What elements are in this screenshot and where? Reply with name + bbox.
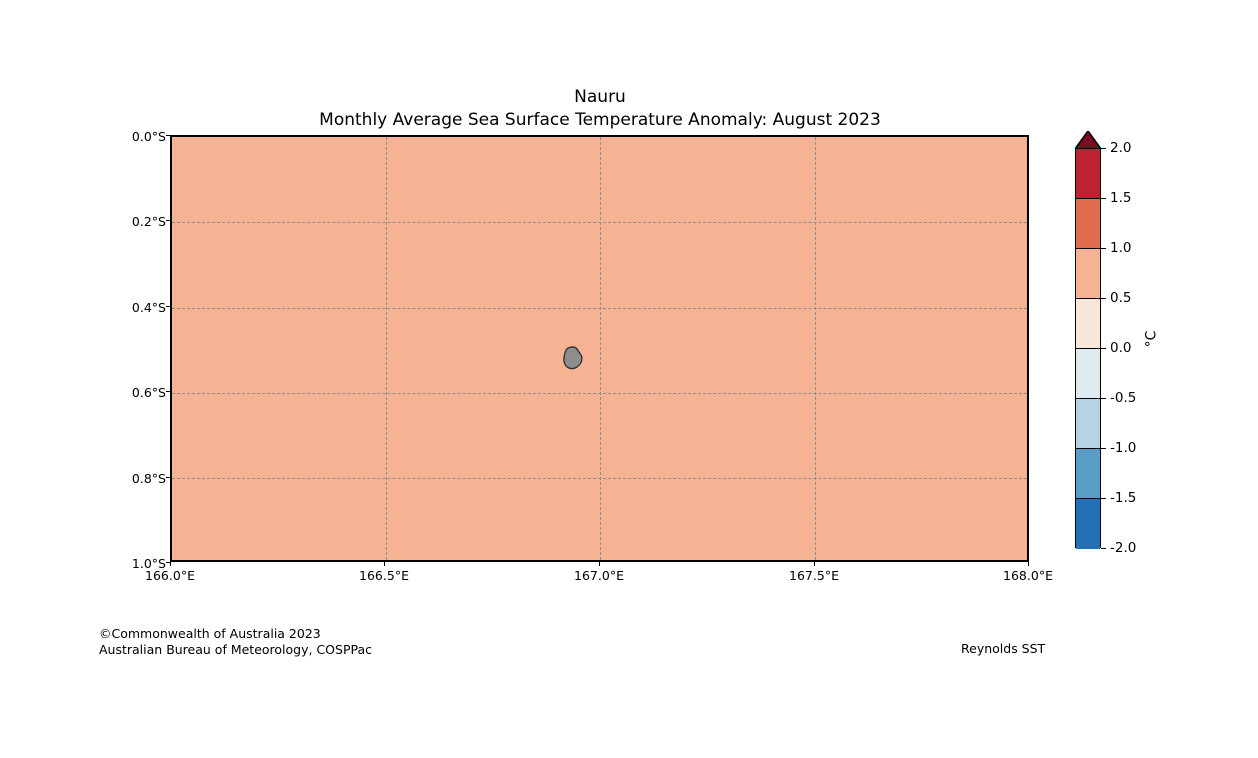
colorbar — [1075, 131, 1101, 565]
cbtick-label-2-0: 2.0 — [1110, 140, 1131, 156]
xtick-mark-0 — [170, 562, 171, 566]
cbtick-label-neg0-5: -0.5 — [1110, 390, 1136, 406]
xtick-mark-3 — [814, 562, 815, 566]
cbtick-label-neg1-0: -1.0 — [1110, 440, 1136, 456]
xtick-mark-4 — [1028, 562, 1029, 566]
gridline-lat-0-4 — [172, 308, 1027, 309]
ytick-label-0-0: 0.0°S — [86, 129, 166, 144]
xtick-label-167-0: 167.0°E — [554, 568, 644, 583]
xtick-mark-2 — [599, 562, 600, 566]
colorbar-band-1-0-to-1-5 — [1076, 199, 1100, 249]
gridline-lat-0-2 — [172, 222, 1027, 223]
colorbar-band-neg1-5-to-neg1-0 — [1076, 449, 1100, 499]
nauru-island-shape — [563, 346, 583, 370]
colorbar-band-neg2-0-to-neg1-5 — [1076, 499, 1100, 549]
cbtick-label-neg1-5: -1.5 — [1110, 490, 1136, 506]
cbtick-mark-1-0 — [1101, 248, 1106, 249]
ytick-label-0-6: 0.6°S — [86, 385, 166, 400]
gridline-lon-167-0 — [600, 137, 601, 560]
title-subtitle: Monthly Average Sea Surface Temperature … — [0, 109, 1200, 132]
cbtick-mark-neg0-5 — [1101, 398, 1106, 399]
xtick-label-168-0: 168.0°E — [983, 568, 1073, 583]
ytick-label-1-0: 1.0°S — [86, 556, 166, 571]
xtick-label-166-5: 166.5°E — [339, 568, 429, 583]
colorbar-band-0-5-to-1-0 — [1076, 249, 1100, 299]
cbtick-mark-0-5 — [1101, 298, 1106, 299]
cbtick-label-0-0: 0.0 — [1110, 340, 1131, 356]
ytick-mark-0 — [166, 135, 170, 136]
colorbar-bands — [1075, 148, 1101, 548]
ytick-label-0-8: 0.8°S — [86, 471, 166, 486]
ytick-mark-2 — [166, 306, 170, 307]
cbtick-mark-neg1-5 — [1101, 498, 1106, 499]
colorbar-over-arrow — [1075, 131, 1101, 149]
ytick-label-0-4: 0.4°S — [86, 300, 166, 315]
cbtick-mark-neg1-0 — [1101, 448, 1106, 449]
cbtick-mark-2-0 — [1101, 148, 1106, 149]
cbtick-mark-1-5 — [1101, 198, 1106, 199]
gridline-lat-0-8 — [172, 478, 1027, 479]
colorbar-unit-label: °C — [1143, 331, 1159, 348]
colorbar-band-neg0-5-to-0-0 — [1076, 349, 1100, 399]
cbtick-mark-neg2-0 — [1101, 548, 1106, 549]
footer-attribution: ©Commonwealth of Australia 2023 Australi… — [99, 626, 372, 657]
cbtick-mark-0-0 — [1101, 348, 1106, 349]
footer-copyright: ©Commonwealth of Australia 2023 — [99, 626, 372, 642]
colorbar-band-1-5-to-2-0 — [1076, 149, 1100, 199]
cbtick-label-1-0: 1.0 — [1110, 240, 1131, 256]
map-plot-area — [170, 135, 1029, 562]
cbtick-label-1-5: 1.5 — [1110, 190, 1131, 206]
ytick-mark-4 — [166, 477, 170, 478]
gridline-lon-167-5 — [815, 137, 816, 560]
cbtick-label-neg2-0: -2.0 — [1110, 540, 1136, 556]
xtick-label-167-5: 167.5°E — [769, 568, 859, 583]
gridline-lat-0-6 — [172, 393, 1027, 394]
colorbar-band-0-0-to-0-5 — [1076, 299, 1100, 349]
ytick-mark-1 — [166, 220, 170, 221]
colorbar-band-neg1-0-to-neg0-5 — [1076, 399, 1100, 449]
xtick-mark-1 — [384, 562, 385, 566]
title-location: Nauru — [0, 86, 1200, 109]
gridline-lon-166-5 — [386, 137, 387, 560]
footer-data-source: Reynolds SST — [961, 641, 1045, 656]
ytick-mark-5 — [166, 562, 170, 563]
chart-title: Nauru Monthly Average Sea Surface Temper… — [0, 86, 1200, 132]
cbtick-label-0-5: 0.5 — [1110, 290, 1131, 306]
ytick-mark-3 — [166, 391, 170, 392]
ytick-label-0-2: 0.2°S — [86, 214, 166, 229]
footer-organisation: Australian Bureau of Meteorology, COSPPa… — [99, 642, 372, 658]
